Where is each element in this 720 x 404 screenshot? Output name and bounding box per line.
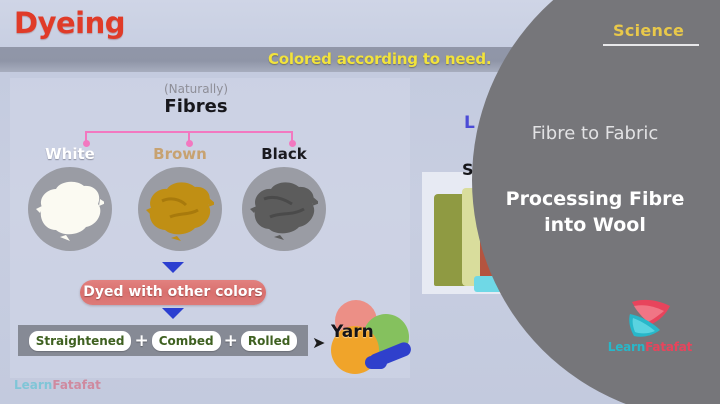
fibre-label-black: Black <box>232 145 336 163</box>
flow-arrow-down-1 <box>162 262 184 273</box>
process-separator-2: + <box>224 331 238 351</box>
brand-name-part1: Learn <box>608 340 645 354</box>
process-step-straightened: Straightened <box>29 331 132 351</box>
process-separator-1: + <box>134 331 148 351</box>
subject-label: Science <box>613 21 684 40</box>
learnfatafat-logo-icon <box>624 296 676 340</box>
fibre-swatch-brown <box>138 167 222 251</box>
partial-text-left: L <box>464 113 475 133</box>
watermark-part1: Learn <box>14 378 52 392</box>
banner-caption: Colored according to need. <box>268 50 491 69</box>
fibres-qualifier-label: (Naturally) <box>141 82 251 96</box>
fibre-label-brown: Brown <box>128 145 232 163</box>
unit-label: Fibre to Fabric <box>480 123 710 144</box>
yarn-strand-blue-tail <box>365 356 387 369</box>
process-step-combed: Combed <box>152 331 221 351</box>
fibre-swatch-black <box>242 167 326 251</box>
dyed-callout-label: Dyed with other colors <box>80 280 266 305</box>
topic-title-line2: into Wool <box>544 214 646 236</box>
flow-arrow-down-2 <box>162 308 184 319</box>
watermark-part2: Fatafat <box>52 378 100 392</box>
wool-tuft-black-icon <box>250 177 318 241</box>
topic-title-line1: Processing Fibre <box>506 188 685 210</box>
page-title: Dyeing <box>14 6 125 40</box>
subject-underline <box>603 44 699 46</box>
topic-title: Processing Fibre into Wool <box>480 186 710 238</box>
dyed-callout: Dyed with other colors <box>80 280 266 305</box>
brand-logo: LearnFatafat <box>602 296 698 362</box>
fibres-root-label: Fibres <box>141 96 251 117</box>
wool-tuft-brown-icon <box>146 177 214 241</box>
brand-watermark: LearnFatafat <box>14 378 101 392</box>
brand-name: LearnFatafat <box>602 340 698 354</box>
yarn-graphic: Yarn <box>325 300 417 378</box>
yarn-label: Yarn <box>331 322 374 342</box>
wool-tuft-white-icon <box>36 177 104 241</box>
fibre-label-white: White <box>18 145 122 163</box>
process-steps-bar: Straightened + Combed + Rolled <box>18 325 308 356</box>
brand-name-part2: Fatafat <box>645 340 692 354</box>
slide-canvas: Dyeing Colored according to need. (Natur… <box>0 0 720 404</box>
process-step-rolled: Rolled <box>241 331 297 351</box>
fibre-swatch-white <box>28 167 112 251</box>
yarn-arrow-icon: ➤ <box>312 333 325 352</box>
